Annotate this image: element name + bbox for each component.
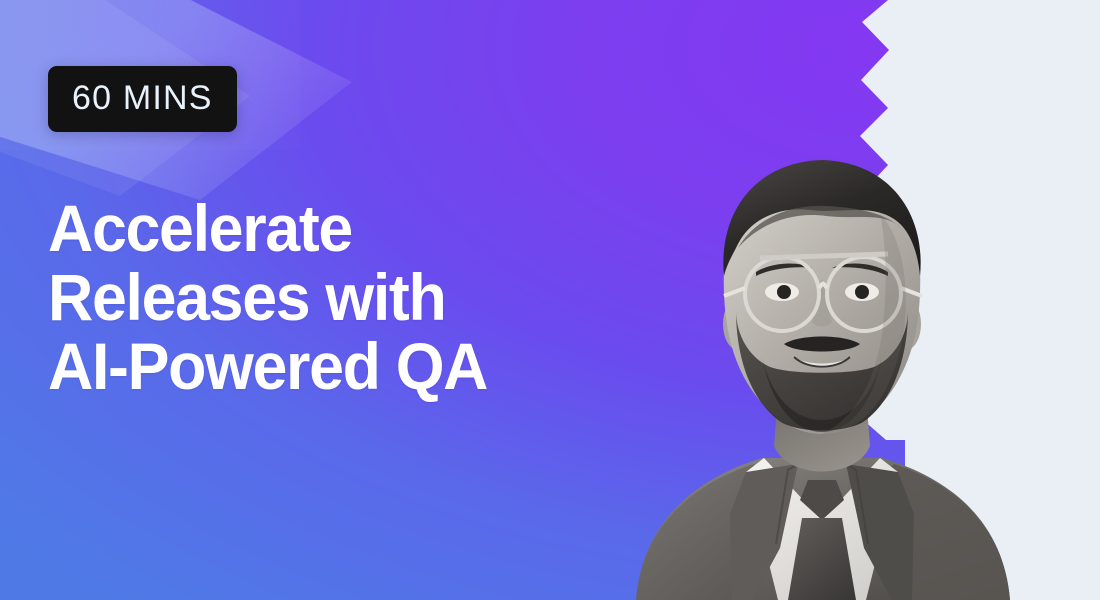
headline-line-1: Accelerate [48,194,637,263]
headline: Accelerate Releases with AI-Powered QA [48,194,668,401]
duration-badge-label: 60 MINS [72,77,213,119]
headline-line-3: AI-Powered QA [48,332,637,401]
webinar-banner: 60 MINS Accelerate Releases with AI-Powe… [0,0,1100,600]
headline-line-2: Releases with [48,263,637,332]
duration-badge: 60 MINS [48,66,237,132]
